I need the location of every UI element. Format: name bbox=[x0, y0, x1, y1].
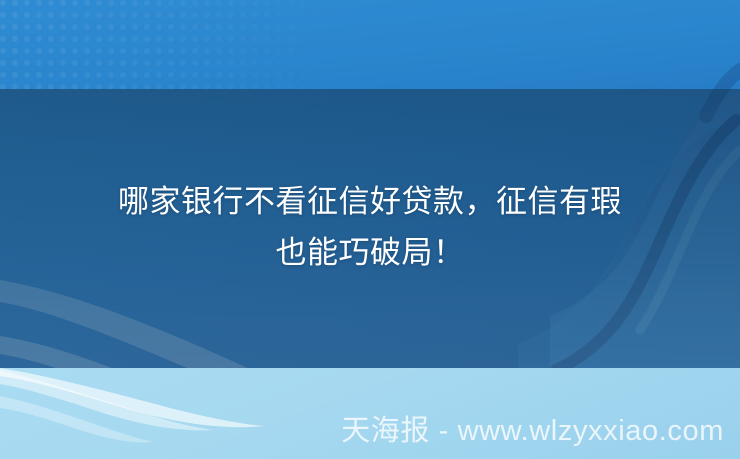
headline-line-2: 也能巧破局！ bbox=[34, 227, 706, 278]
headline-line-1: 哪家银行不看征信好贷款，征信有瑕 bbox=[34, 176, 706, 227]
headline: 哪家银行不看征信好贷款，征信有瑕 也能巧破局！ bbox=[0, 176, 740, 278]
bottom-swoosh-artwork bbox=[0, 368, 300, 459]
watermark-text: 天海报 - www.wlzyxxiao.com bbox=[341, 411, 724, 451]
promo-banner: 哪家银行不看征信好贷款，征信有瑕 也能巧破局！ 天海报 - www.wlzyxx… bbox=[0, 0, 740, 459]
halftone-dot-texture bbox=[0, 0, 420, 92]
